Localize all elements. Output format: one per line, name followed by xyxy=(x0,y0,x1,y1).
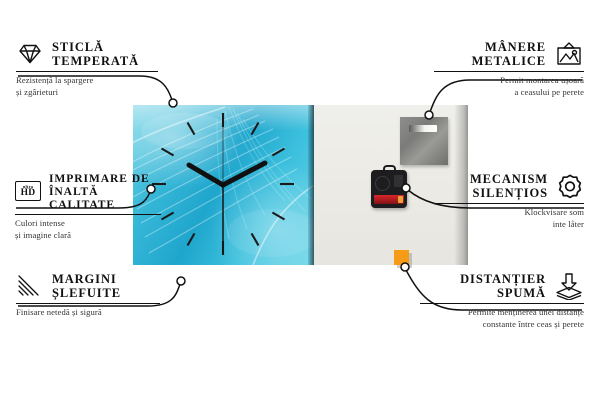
feature-description: Culori intense și imagine clară xyxy=(15,218,167,242)
feature-title: MECANISM SILENȚIOS xyxy=(470,172,548,200)
feature-distantier-spuma: DISTANȚIER SPUMĂ Permite menținerea unei… xyxy=(418,272,584,331)
picture-hanger-icon xyxy=(554,42,584,67)
desc-line-1: Culori intense xyxy=(15,218,167,230)
desc-line-2: constante între ceas și perete xyxy=(418,319,584,331)
feature-title: DISTANȚIER SPUMĂ xyxy=(460,272,546,300)
desc-line-1: Permite menținerea unei distanțe xyxy=(418,307,584,319)
feature-title: STICLĂ TEMPERATĂ xyxy=(52,40,139,68)
feature-title: IMPRIMARE DE ÎNALTĂ CALITATE xyxy=(49,172,167,211)
feature-header: MECANISM SILENȚIOS xyxy=(432,172,584,200)
title-line-1: MARGINI xyxy=(52,272,121,286)
feature-rule xyxy=(420,303,584,304)
infographic-canvas: STICLĂ TEMPERATĂ Rezistență la spargere … xyxy=(0,0,600,400)
diamond-icon xyxy=(16,42,44,66)
desc-line-2: și zgârieturi xyxy=(16,87,166,99)
feature-rule xyxy=(16,303,160,304)
desc-line-1: Permit montarea ușoară xyxy=(432,75,584,87)
feature-description: Finisare netedă și sigură xyxy=(16,307,168,319)
title-line-1: STICLĂ xyxy=(52,40,139,54)
feature-sticla-temperata: STICLĂ TEMPERATĂ Rezistență la spargere … xyxy=(16,40,166,99)
feature-title: MÂNERE METALICE xyxy=(472,40,546,68)
feature-imprimare-hd: ultra HD IMPRIMARE DE ÎNALTĂ CALITATE Cu… xyxy=(15,172,167,242)
diagonal-lines-icon xyxy=(16,274,44,298)
feature-header: MÂNERE METALICE xyxy=(432,40,584,68)
feature-description: Permite menținerea unei distanțe constan… xyxy=(418,307,584,331)
feature-header: MARGINI ȘLEFUITE xyxy=(16,272,168,300)
battery xyxy=(374,195,404,204)
title-line-1: MÂNERE xyxy=(472,40,546,54)
metal-hanger-plate xyxy=(400,117,448,165)
desc-line-1: Rezistență la spargere xyxy=(16,75,166,87)
title-line-2: ÎNALTĂ CALITATE xyxy=(49,185,167,211)
foam-spacer xyxy=(394,250,409,265)
desc-line-2: a ceasului pe perete xyxy=(432,87,584,99)
desc-line-1: Klockvisare som xyxy=(432,207,584,219)
feature-mecanism-silentios: MECANISM SILENȚIOS Klockvisare som inte … xyxy=(432,172,584,231)
desc-line-2: inte låter xyxy=(432,219,584,231)
feature-header: STICLĂ TEMPERATĂ xyxy=(16,40,166,68)
feature-description: Klockvisare som inte låter xyxy=(432,207,584,231)
battery-tip xyxy=(398,196,403,203)
feature-header: DISTANȚIER SPUMĂ xyxy=(418,272,584,300)
feature-rule xyxy=(434,71,584,72)
gear-icon xyxy=(556,173,584,199)
title-line-2: ȘLEFUITE xyxy=(52,286,121,300)
feature-description: Rezistență la spargere și zgârieturi xyxy=(16,75,166,99)
clock-mechanism xyxy=(371,170,407,208)
desc-line-2: și imagine clară xyxy=(15,230,167,242)
feature-rule xyxy=(15,214,161,215)
mechanism-block xyxy=(394,175,403,187)
title-line-2: SILENȚIOS xyxy=(470,186,548,200)
desc-line-1: Finisare netedă și sigură xyxy=(16,307,168,319)
mechanism-hook xyxy=(383,165,396,173)
ultra-hd-icon: ultra HD xyxy=(15,181,41,201)
feature-margini-slefuite: MARGINI ȘLEFUITE Finisare netedă și sigu… xyxy=(16,272,168,319)
title-line-1: MECANISM xyxy=(470,172,548,186)
feature-title: MARGINI ȘLEFUITE xyxy=(52,272,121,300)
mechanism-dial xyxy=(375,176,390,191)
title-line-2: METALICE xyxy=(472,54,546,68)
title-line-2: SPUMĂ xyxy=(460,286,546,300)
spacer-stack-icon xyxy=(554,273,584,300)
hd-main-text: HD xyxy=(21,189,36,199)
feature-rule xyxy=(434,203,584,204)
title-line-2: TEMPERATĂ xyxy=(52,54,139,68)
title-line-1: DISTANȚIER xyxy=(460,272,546,286)
feature-manere-metalice: MÂNERE METALICE Permit montarea ușoară a… xyxy=(432,40,584,99)
glass-edge xyxy=(308,105,314,265)
feature-rule xyxy=(16,71,158,72)
feature-description: Permit montarea ușoară a ceasului pe per… xyxy=(432,75,584,99)
hanger-slot xyxy=(409,125,437,132)
feature-header: ultra HD IMPRIMARE DE ÎNALTĂ CALITATE xyxy=(15,172,167,211)
title-line-1: IMPRIMARE DE xyxy=(49,172,167,185)
